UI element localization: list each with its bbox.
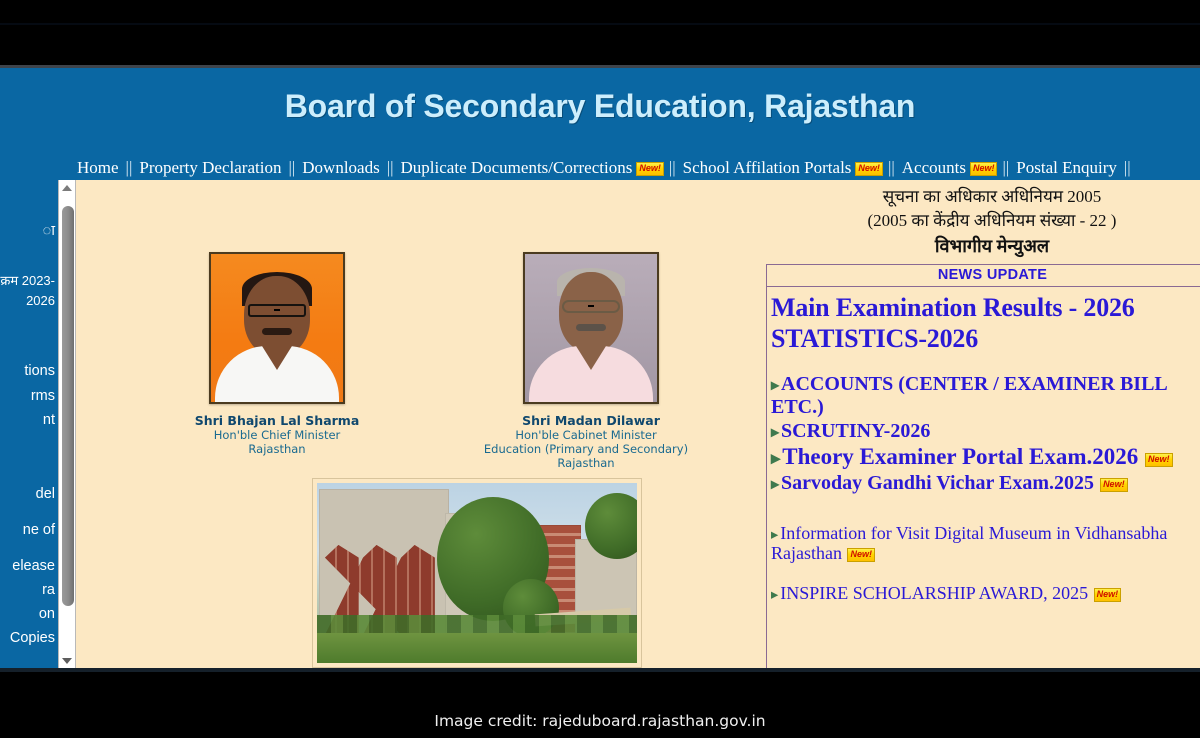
news-update-header: NEWS UPDATE	[767, 265, 1200, 287]
nav-separator: ||	[884, 155, 899, 180]
news-item-label: ACCOUNTS (CENTER / EXAMINER BILL ETC.)	[771, 373, 1167, 417]
minister-photo-frame	[523, 252, 659, 404]
bullet-arrow-icon: ▸	[771, 424, 779, 441]
news-item-label: Sarvoday Gandhi Vichar Exam.2025	[781, 472, 1094, 494]
news-item-label: INSPIRE SCHOLARSHIP AWARD, 2025	[780, 583, 1088, 603]
rail-line-4: rms	[31, 387, 55, 405]
new-badge-icon: New!	[847, 548, 875, 562]
news-item[interactable]: ▸ACCOUNTS (CENTER / EXAMINER BILL ETC.)	[771, 373, 1200, 418]
nav-separator: ||	[122, 155, 137, 180]
minister-name: Shri Bhajan Lal Sharma	[182, 413, 372, 428]
screenshot-root: Board of Secondary Education, Rajasthan …	[0, 0, 1200, 738]
new-badge-icon: New!	[1145, 453, 1173, 467]
nav-separator: ||	[383, 155, 398, 180]
news-item[interactable]: STATISTICS-2026	[771, 324, 1200, 353]
minister-role-line2: Education (Primary and Secondary)	[476, 442, 696, 456]
bullet-arrow-icon: ▸	[771, 476, 779, 493]
news-item-label: Information for Visit Digital Museum in …	[771, 523, 1167, 563]
news-item[interactable]: ▸SCRUTINY-2026	[771, 420, 1200, 442]
rail-line-5: nt	[43, 411, 55, 429]
minister-photo-frame	[209, 252, 345, 404]
minister-name: Shri Madan Dilawar	[486, 413, 696, 428]
rail-line-10: on	[39, 605, 55, 623]
rti-line-1: सूचना का अधिकार अधिनियम 2005	[766, 184, 1200, 207]
news-item-label: STATISTICS-2026	[771, 324, 978, 353]
news-item-label: Theory Examiner Portal Exam.2026	[782, 444, 1138, 469]
rail-line-11: Copies	[10, 629, 55, 647]
minister-role-line2: Rajasthan	[182, 442, 372, 456]
rail-line-1: क्रम 2023-	[0, 272, 55, 290]
bullet-arrow-icon: ▸	[771, 448, 780, 468]
rti-line-3[interactable]: विभागीय मेन्युअल	[766, 234, 1200, 258]
bottom-seam	[0, 668, 1200, 672]
rail-line-6: del	[36, 485, 55, 503]
image-credit: Image credit: rajeduboard.rajasthan.gov.…	[0, 712, 1200, 730]
news-item[interactable]: Main Examination Results - 2026	[771, 293, 1200, 322]
nav-item-accounts[interactable]: Accounts	[899, 155, 969, 180]
news-spacer	[771, 355, 1200, 373]
rail-line-7: ne of	[23, 521, 55, 539]
rail-line-3: tions	[24, 362, 55, 380]
news-update-box: NEWS UPDATE Main Examination Results - 2…	[766, 264, 1200, 668]
new-badge-icon: New!	[1094, 588, 1122, 602]
new-badge-icon: New!	[970, 162, 998, 176]
nav-separator: ||	[284, 155, 299, 180]
letterbox-seam	[0, 23, 1200, 25]
nav-separator: ||	[998, 155, 1013, 180]
rail-line-2: 2026	[26, 292, 55, 310]
bullet-arrow-icon: ▸	[771, 527, 778, 543]
nav-items-container: Home||Property Declaration||Downloads||D…	[0, 155, 1200, 180]
scroll-up-arrow-icon[interactable]	[59, 180, 75, 195]
page-content: Shri Bhajan Lal Sharma Hon'ble Chief Min…	[76, 180, 1200, 668]
news-item[interactable]: ▸Theory Examiner Portal Exam.2026 New!	[771, 444, 1200, 470]
board-building-photo	[312, 478, 642, 668]
nav-item-home[interactable]: Home	[74, 155, 122, 180]
news-item-label: Main Examination Results - 2026	[771, 293, 1135, 322]
nav-item-downloads[interactable]: Downloads	[299, 155, 382, 180]
minister-card-chief: Shri Bhajan Lal Sharma Hon'ble Chief Min…	[182, 252, 372, 456]
page-body: Shri Bhajan Lal Sharma Hon'ble Chief Min…	[58, 180, 1200, 668]
new-badge-icon: New!	[636, 162, 664, 176]
scrollbar-thumb[interactable]	[62, 206, 74, 606]
scroll-down-arrow-icon[interactable]	[59, 653, 75, 668]
minister-photo-chief	[211, 254, 343, 402]
news-items-list: Main Examination Results - 2026STATISTIC…	[767, 287, 1200, 603]
nav-item-property-declaration[interactable]: Property Declaration	[136, 155, 284, 180]
top-letterbox	[0, 0, 1200, 68]
news-item[interactable]: ▸Sarvoday Gandhi Vichar Exam.2025 New!	[771, 472, 1200, 494]
new-badge-icon: New!	[855, 162, 883, 176]
minister-role-line3: Rajasthan	[476, 456, 696, 470]
news-spacer	[771, 565, 1200, 583]
site-title: Board of Secondary Education, Rajasthan	[0, 88, 1200, 125]
rti-act-heading: सूचना का अधिकार अधिनियम 2005 (2005 का के…	[766, 180, 1200, 258]
ministers-section: Shri Bhajan Lal Sharma Hon'ble Chief Min…	[76, 180, 762, 470]
minister-role-line1: Hon'ble Cabinet Minister	[476, 428, 696, 442]
rail-line-9: ra	[42, 581, 55, 599]
bullet-arrow-icon: ▸	[771, 587, 778, 603]
news-item[interactable]: ▸INSPIRE SCHOLARSHIP AWARD, 2025 New!	[771, 583, 1200, 603]
rail-line-0: ा	[43, 222, 55, 240]
nav-item-duplicate-documents-corrections[interactable]: Duplicate Documents/Corrections	[398, 155, 636, 180]
news-spacer	[771, 497, 1200, 523]
minister-card-cabinet: Shri Madan Dilawar Hon'ble Cabinet Minis…	[486, 252, 696, 470]
nav-item-postal-enquiry[interactable]: Postal Enquiry	[1013, 155, 1120, 180]
page-scrollbar[interactable]	[58, 180, 76, 668]
news-item-label: SCRUTINY-2026	[781, 420, 930, 442]
nav-separator: ||	[1120, 155, 1135, 180]
left-sidebar-clipped[interactable]: ा क्रम 2023- 2026 tions rms nt del ne of…	[0, 180, 58, 668]
news-panel: सूचना का अधिकार अधिनियम 2005 (2005 का के…	[766, 180, 1200, 668]
bullet-arrow-icon: ▸	[771, 377, 779, 394]
nav-separator: ||	[665, 155, 680, 180]
main-navigation[interactable]: Home||Property Declaration||Downloads||D…	[0, 155, 1200, 180]
rti-line-2: (2005 का केंद्रीय अधिनियम संख्या - 22 )	[766, 208, 1200, 231]
news-item[interactable]: ▸Information for Visit Digital Museum in…	[771, 523, 1200, 563]
minister-photo-cabinet	[525, 254, 657, 402]
building-image	[317, 483, 637, 663]
new-badge-icon: New!	[1100, 478, 1128, 492]
minister-role-line1: Hon'ble Chief Minister	[182, 428, 372, 442]
nav-item-school-affilation-portals[interactable]: School Affilation Portals	[680, 155, 855, 180]
rail-line-8: elease	[12, 557, 55, 575]
